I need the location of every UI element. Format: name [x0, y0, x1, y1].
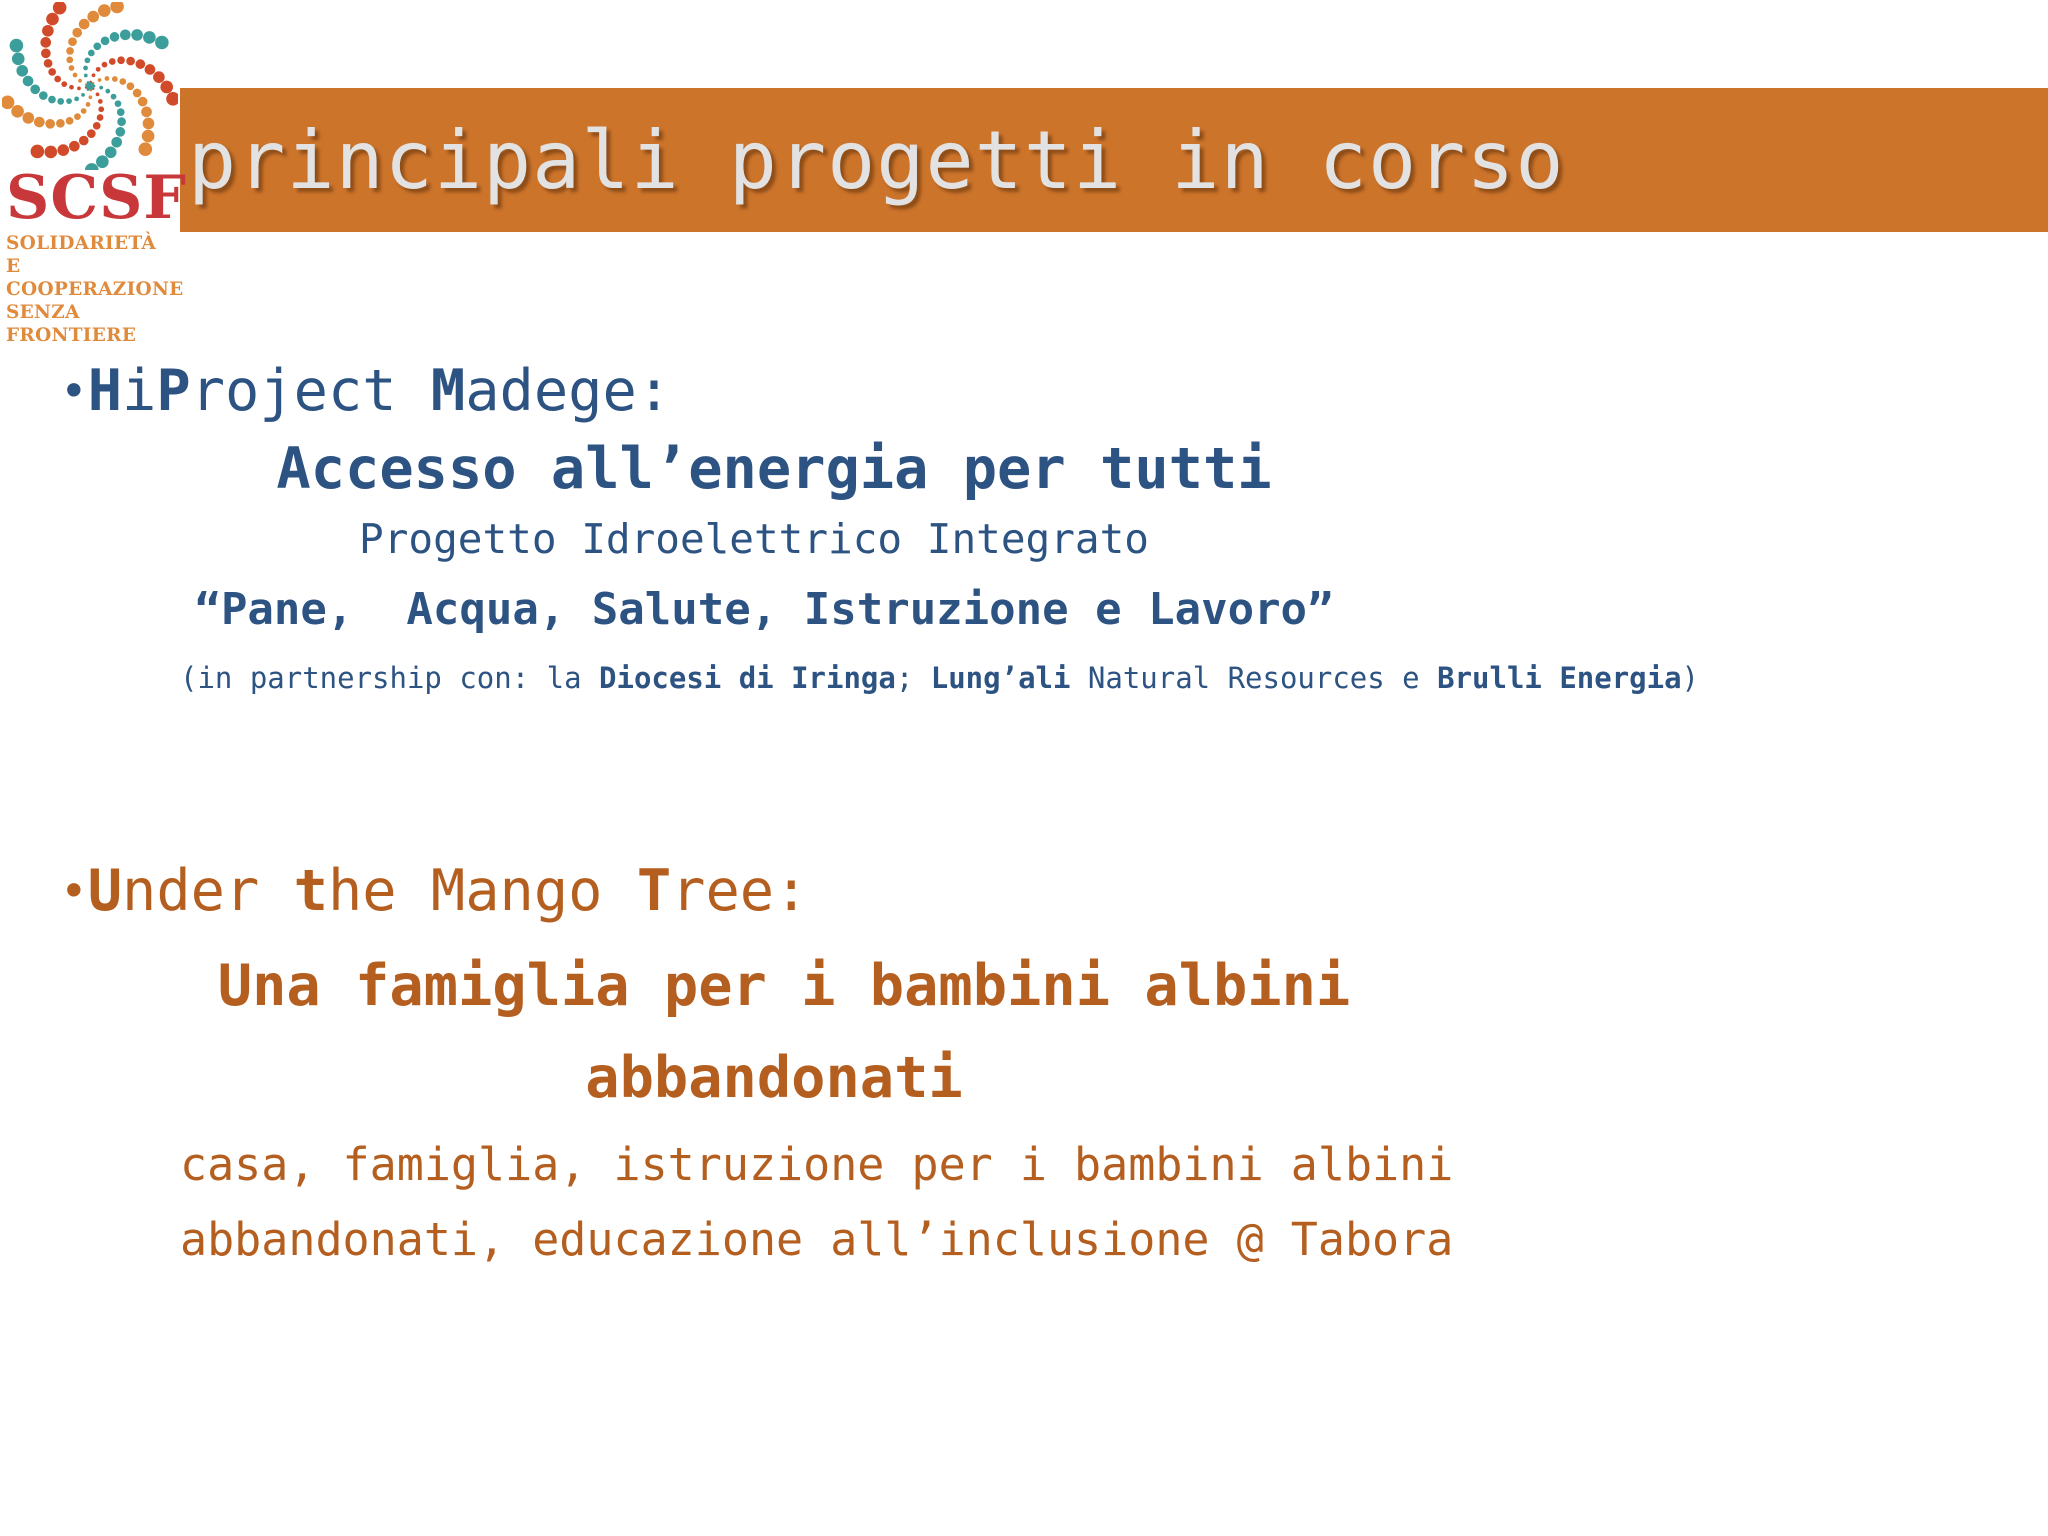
text-run: T [637, 858, 671, 924]
project-1-motto: “Pane, Acqua, Salute, Istruzione e Lavor… [0, 585, 1788, 635]
scsf-pinwheel-icon [2, 2, 178, 170]
text-run: ; [896, 661, 931, 695]
logo-tagline-line-2: E COOPERAZIONE [6, 255, 182, 301]
project-2-description-line-1: casa, famiglia, istruzione per i bambini… [180, 1140, 1453, 1190]
project-1-heading: •HiProject Madege: [60, 360, 671, 422]
text-run: nder [122, 858, 294, 924]
slide-canvas: principali progetti in corso SCSF SOLIDA… [0, 0, 2048, 1536]
project-1-subtitle: Accesso all’energia per tutti [0, 438, 1798, 500]
slide-body: •HiProject Madege: Accesso all’energia p… [0, 360, 2048, 1536]
text-run: P [156, 358, 190, 424]
project-1-partnership: (in partnership con: la Diocesi di Iring… [180, 655, 1940, 702]
text-run: t [294, 858, 328, 924]
text-run: adege: [465, 358, 671, 424]
logo-tagline: SOLIDARIETÀ E COOPERAZIONE SENZA FRONTIE… [6, 232, 182, 347]
scsf-logo: SCSF SOLIDARIETÀ E COOPERAZIONE SENZA FR… [0, 0, 180, 320]
text-run: ree: [671, 858, 808, 924]
project-2-subtitle-line-1: Una famiglia per i bambini albini [0, 955, 1808, 1017]
text-run: ) [1682, 661, 1699, 695]
project-2-description-line-2: abbandonati, educazione all’inclusione @… [180, 1215, 1453, 1265]
text-run: U [88, 858, 122, 924]
text-run: i [122, 358, 156, 424]
text-run: he Mango [328, 858, 637, 924]
project-2-subtitle-line-2: abbandonati [0, 1047, 1798, 1109]
text-run: Brulli Energia [1437, 661, 1681, 695]
logo-tagline-line-3: SENZA FRONTIERE [6, 301, 182, 347]
bullet-marker: • [60, 364, 88, 418]
text-run: H [88, 358, 122, 424]
text-run: Diocesi di Iringa [599, 661, 896, 695]
text-run: Lung’ali [931, 661, 1071, 695]
project-2-heading: •Under the Mango Tree: [60, 860, 808, 922]
bullet-marker: • [60, 864, 88, 918]
text-run: roject [191, 358, 431, 424]
text-run: M [431, 358, 465, 424]
project-1-descriptor: Progetto Idroelettrico Integrato [0, 515, 1778, 563]
logo-wordmark: SCSF [6, 168, 178, 228]
text-run: Natural Resources e [1070, 661, 1437, 695]
text-run: (in partnership con: la [180, 661, 599, 695]
page-title: principali progetti in corso [188, 96, 2048, 226]
logo-tagline-line-1: SOLIDARIETÀ [6, 232, 182, 255]
